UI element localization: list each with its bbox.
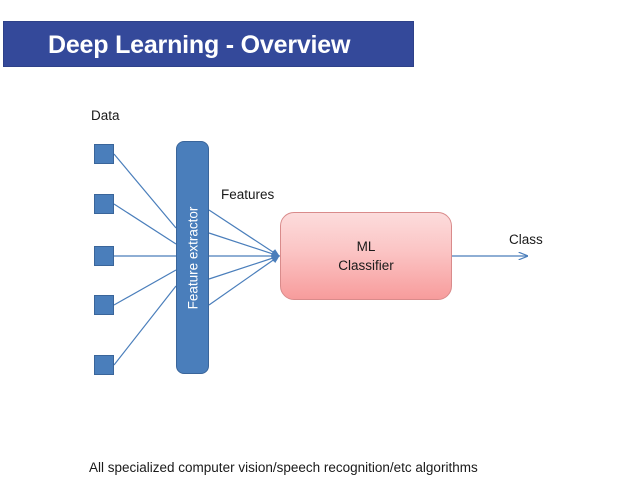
data-node-3[interactable]	[94, 246, 114, 266]
data-node-1[interactable]	[94, 144, 114, 164]
footer-line-1: All specialized computer vision/speech r…	[89, 459, 478, 476]
feature-extractor-block[interactable]: Feature extractor	[176, 141, 209, 374]
data-node-5[interactable]	[94, 355, 114, 375]
title-bar: Deep Learning - Overview	[3, 21, 414, 67]
ml-classifier-block[interactable]: ML Classifier	[280, 212, 452, 300]
feature-connectors	[209, 210, 279, 305]
feature-extractor-label: Feature extractor	[185, 206, 200, 309]
features-label: Features	[221, 187, 274, 202]
slide-canvas: Deep Learning - Overview Data Features C…	[0, 0, 638, 479]
data-node-2[interactable]	[94, 194, 114, 214]
page-title: Deep Learning - Overview	[48, 31, 350, 60]
data-node-4[interactable]	[94, 295, 114, 315]
input-connectors	[114, 154, 176, 365]
class-label: Class	[509, 232, 543, 247]
data-label: Data	[91, 108, 120, 123]
footer-text: All specialized computer vision/speech r…	[89, 425, 478, 479]
ml-classifier-label: ML Classifier	[338, 237, 394, 275]
